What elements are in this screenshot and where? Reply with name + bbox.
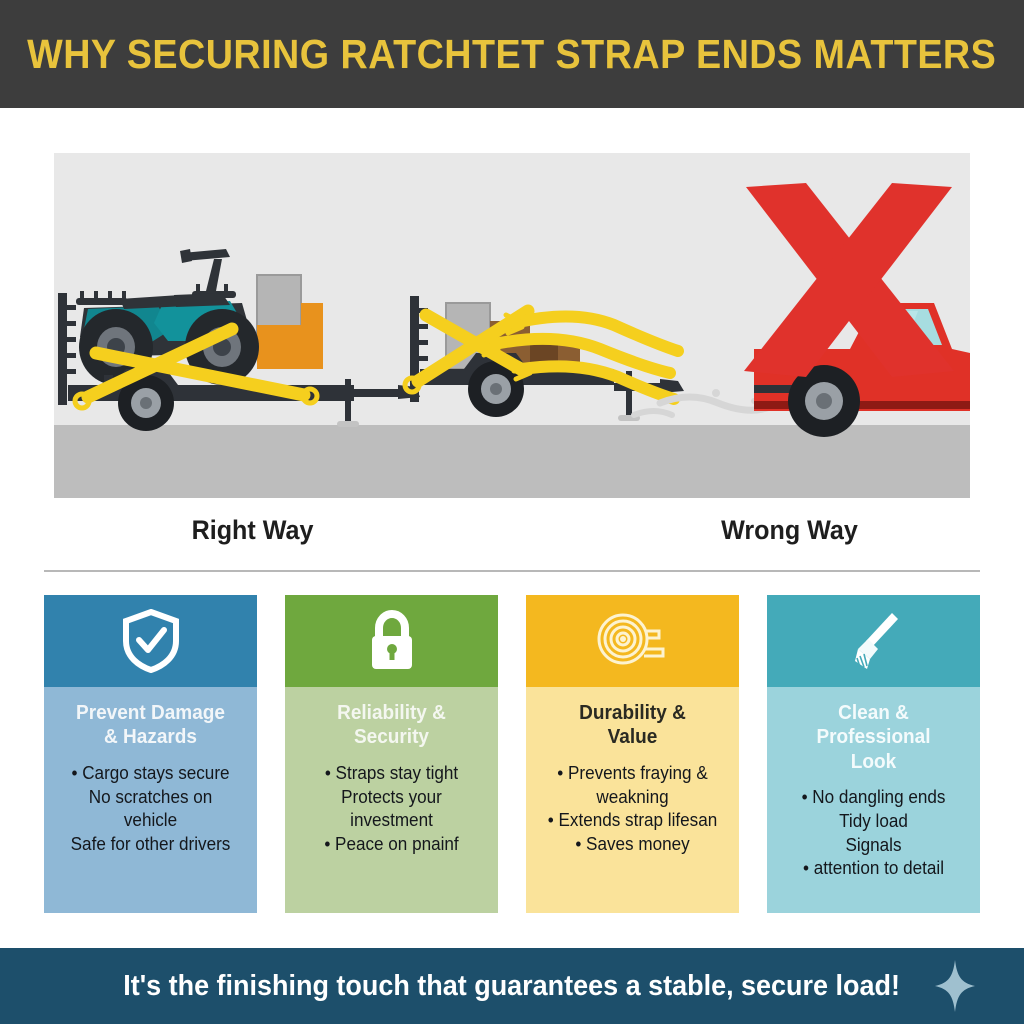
card-points-prevent-damage: • Cargo stays secure No scratches on veh… (59, 762, 242, 857)
card-title-reliability-security: Reliability & Security (300, 701, 483, 750)
card-header-durability-value (526, 595, 739, 687)
benefit-card-clean-professional-look[interactable]: Clean & Professional Look • No dangling … (767, 595, 980, 913)
trailer-strap-comparison-illustration (54, 153, 970, 498)
page-title: WHY SECURING RATCHTET STRAP ENDS MATTERS (27, 31, 996, 78)
footer-tagline: It's the finishing touch that guarantees… (124, 970, 901, 1003)
card-body-prevent-damage: Prevent Damage & Hazards • Cargo stays s… (44, 687, 257, 913)
card-body-durability-value: Durability & Value • Prevents fraying & … (526, 687, 739, 913)
sparkle-icon (934, 959, 976, 1013)
card-header-clean-professional-look (767, 595, 980, 687)
broom-icon (846, 609, 902, 673)
right-way-label: Right Way (192, 515, 314, 546)
shield-check-icon (122, 609, 180, 673)
illustration-panel (54, 153, 970, 498)
card-title-clean-professional-look: Clean & Professional Look (782, 701, 965, 774)
footer-bar: It's the finishing touch that guarantees… (0, 948, 1024, 1024)
strap-roll-icon (597, 611, 669, 671)
card-title-durability-value: Durability & Value (541, 701, 724, 750)
benefit-card-durability-value[interactable]: Durability & Value • Prevents fraying & … (526, 595, 739, 913)
card-points-clean-professional-look: • No dangling ends Tidy load Signals • a… (782, 786, 965, 881)
benefit-cards: Prevent Damage & Hazards • Cargo stays s… (44, 595, 980, 913)
section-divider (44, 570, 980, 572)
header-bar: WHY SECURING RATCHTET STRAP ENDS MATTERS (0, 0, 1024, 108)
card-points-durability-value: • Prevents fraying & weakning • Extends … (541, 762, 724, 857)
card-title-prevent-damage: Prevent Damage & Hazards (59, 701, 242, 750)
card-body-clean-professional-look: Clean & Professional Look • No dangling … (767, 687, 980, 913)
wrong-way-label: Wrong Way (721, 515, 858, 546)
card-header-reliability-security (285, 595, 498, 687)
card-body-reliability-security: Reliability & Security • Straps stay tig… (285, 687, 498, 913)
card-points-reliability-security: • Straps stay tight Protects your invest… (300, 762, 483, 857)
benefit-card-prevent-damage[interactable]: Prevent Damage & Hazards • Cargo stays s… (44, 595, 257, 913)
way-labels: Right Way Wrong Way (54, 515, 970, 561)
benefit-card-reliability-security[interactable]: Reliability & Security • Straps stay tig… (285, 595, 498, 913)
card-header-prevent-damage (44, 595, 257, 687)
lock-icon (365, 609, 419, 673)
